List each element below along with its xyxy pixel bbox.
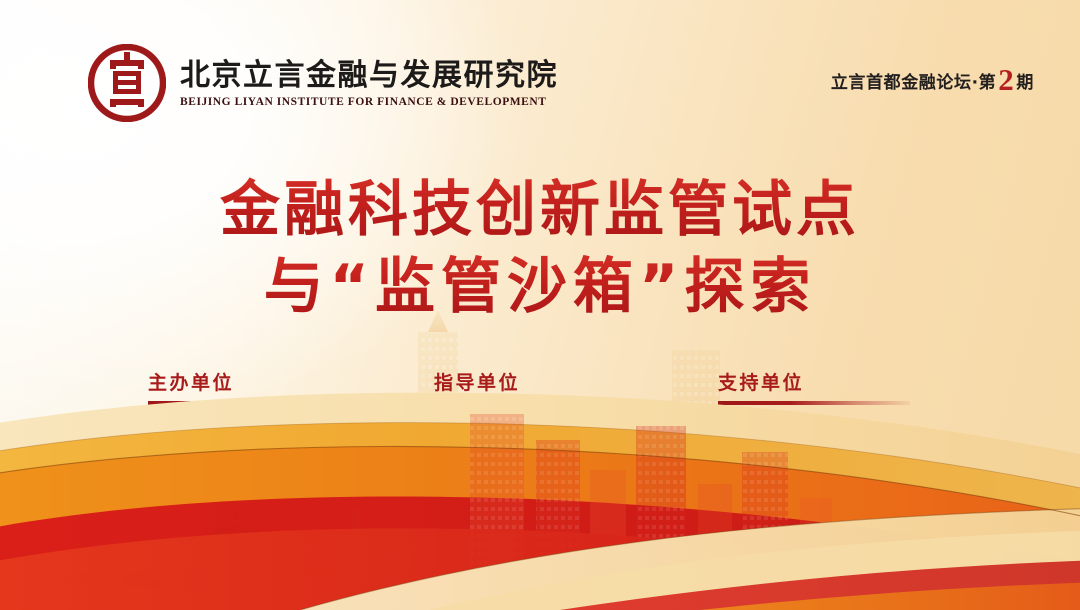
institute-name-en: BEIJING LIYAN INSTITUTE FOR FINANCE & DE… [180,96,558,108]
poster-header: 北京立言金融与发展研究院 BEIJING LIYAN INSTITUTE FOR… [0,0,1080,150]
title-line-2: 与“监管沙箱”探索 [0,249,1080,326]
title-line-1: 金融科技创新监管试点 [0,172,1080,249]
page-title: 金融科技创新监管试点 与“监管沙箱”探索 [0,172,1080,326]
institute-logo: 北京立言金融与发展研究院 BEIJING LIYAN INSTITUTE FOR… [88,44,558,122]
conference-poster: 北京立言金融与发展研究院 BEIJING LIYAN INSTITUTE FOR… [0,0,1080,610]
seal-logo-icon [88,44,166,122]
issue-number: 2 [996,64,1016,95]
issue-suffix: 期 [1016,68,1034,93]
curved-ribbon-bands [0,380,1080,610]
institute-name-cn: 北京立言金融与发展研究院 [180,60,558,92]
issue-prefix: 立言首都金融论坛·第 [831,68,996,93]
forum-issue-label: 立言首都金融论坛·第 2 期 [831,62,1034,93]
